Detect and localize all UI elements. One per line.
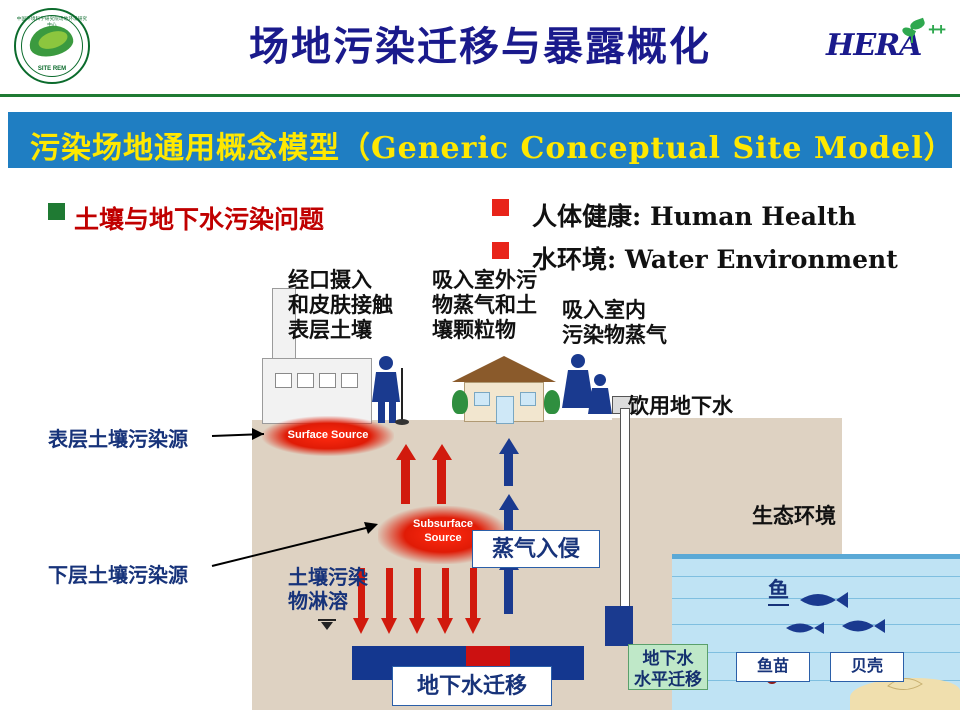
page-title: 场地污染迁移与暴露概化 [180,14,780,72]
surface-source-cn-label: 表层土壤污染源 [48,428,188,452]
leach-arrow-head-5 [465,618,481,634]
legend-green-label: 土壤与地下水污染问题 [74,200,324,236]
factory-building [262,358,372,424]
groundwater-horizontal-box: 地下水 水平迁移 [628,644,708,690]
surface-source-label: Surface Source [268,429,388,441]
sprout-icon [900,18,926,44]
pathway-indoor-label: 吸入室内 污染物蒸气 [562,298,667,348]
legend-green-marker [48,203,65,220]
pathway-ingestion-label: 经口摄入 和皮肤接触 表层土壤 [288,268,393,342]
blue-arrow-head-3 [499,438,519,454]
red-arrow-head-2 [432,444,452,460]
leach-arrow-shaft-2 [386,568,393,620]
house [458,356,550,422]
resident-figures [562,354,612,414]
legend-red-item-1: 人体健康: Human Health [532,197,856,233]
leach-arrow-head-3 [409,618,425,634]
house-roof [452,356,556,382]
bush-left-icon [452,390,468,414]
logo-caption: SITE REM [16,66,88,72]
hera-logo: HERA ++ [826,16,946,76]
groundwater-migration-box: 地下水迁移 [392,666,552,706]
blue-arrow-shaft-3 [504,452,513,486]
legend-red-1-cn: 人体健康 [532,202,632,231]
leach-arrow-shaft-4 [442,568,449,620]
well-pipe [620,408,630,630]
worker-figure [372,356,409,425]
fry-box: 鱼苗 [736,652,810,682]
subsurface-source-cn-label: 下层土壤污染源 [48,564,188,588]
red-arrow-head-1 [396,444,416,460]
legend-red-marker-1 [492,199,509,216]
bush-right-icon [544,390,560,414]
red-arrow-shaft-2 [437,458,446,504]
drinking-groundwater-label: 饮用地下水 [628,394,733,419]
legend-red-marker-2 [492,242,509,259]
eco-environment-label: 生态环境 [752,504,836,529]
header-divider [0,94,960,97]
vapor-intrusion-box: 蒸气入侵 [472,530,600,568]
leach-arrow-head-1 [353,618,369,634]
slide: 中国环境科学研究院场地环境研究中心 SITE REM 场地污染迁移与暴露概化 H… [0,0,960,720]
water-surface-line [672,554,960,559]
blue-arrow-shaft-1 [504,568,513,614]
pathway-outdoor-label: 吸入室外污 物蒸气和土 壤颗粒物 [432,268,537,342]
institute-logo: 中国环境科学研究院场地环境研究中心 SITE REM [14,8,90,84]
house-window-left [474,392,490,406]
house-door [496,396,514,424]
hera-superscript: ++ [928,20,944,40]
section-band: 污染场地通用概念模型（Generic Conceptual Site Model… [8,112,952,168]
blue-arrow-head-2 [499,494,519,510]
section-title: 污染场地通用概念模型（Generic Conceptual Site Model… [30,123,955,167]
well-pump [605,606,633,646]
legend-red-1-en: : Human Health [632,202,856,231]
leach-arrow-head-4 [437,618,453,634]
red-arrow-shaft-1 [401,458,410,504]
fish-label: 鱼 [768,578,789,606]
leaching-label: 土壤污染 物淋溶 [288,566,368,613]
leach-arrow-shaft-3 [414,568,421,620]
leach-arrow-head-2 [381,618,397,634]
shellfish-box: 贝壳 [830,652,904,682]
house-window-right [520,392,536,406]
conceptual-site-model-diagram: Surface Source Subsurface Source [0,268,960,720]
leach-arrow-shaft-5 [470,568,477,620]
